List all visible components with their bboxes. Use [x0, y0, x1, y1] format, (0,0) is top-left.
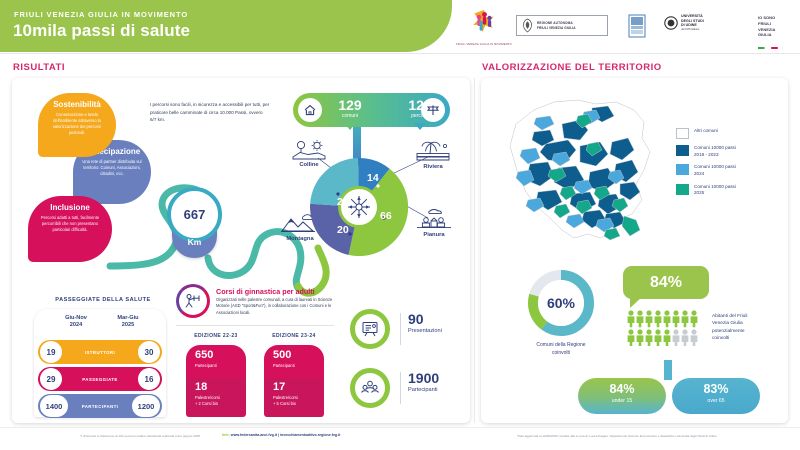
- abitanti-label-line3: potenzialmente: [712, 328, 784, 335]
- federsanita-anci-fvg-logo: [626, 13, 648, 51]
- edizione-23-24-gyms: 17 Palestre/corsi + 5 Corsi bis: [264, 378, 324, 417]
- gym-title: Corsi di ginnastica per adulti: [216, 287, 315, 296]
- universita-udine-text: UNIVERSITÀ DEGLI STUDI DI UDINE dal 1978…: [681, 14, 704, 31]
- edizione-23-24-participants: 500 Partecipanti: [264, 345, 324, 378]
- italy-flag-icon: [758, 47, 778, 51]
- pillar-inclusione: Inclusione Percorsi adatti a tutti, faci…: [28, 196, 112, 262]
- kpi-divider-1: [400, 313, 401, 345]
- edizione-23-24-gyms-value: 17: [273, 382, 324, 393]
- under15-pill: 84% under 15: [578, 378, 666, 414]
- logo-bar: FRIULI VENEZIA GIULIA IN MOVIMENTO REGIO…: [458, 8, 792, 48]
- star-people-icon: [464, 8, 504, 36]
- comuni-percorsi-capsule: 129 comuni 120 percorsi: [293, 93, 450, 127]
- passeggiate-istruttori-v2: 30: [138, 341, 160, 363]
- edizione-23-24-gyms-line2: + 5 Corsi bis: [273, 401, 324, 407]
- stat-comuni: 129 comuni: [326, 98, 374, 119]
- passeggiate-partecipanti-v1: 1400: [40, 395, 68, 417]
- passeggiate-passeggiate-v1: 29: [40, 368, 62, 390]
- passeggiate-title: PASSEGGIATE DELLA SALUTE: [33, 297, 173, 303]
- gymnastics-icon: [176, 284, 210, 318]
- pillar-sostenibilita: Sostenibilità Conservazione e tutela del…: [38, 93, 116, 157]
- total-km-capsule: 667 TOT Km: [172, 193, 217, 258]
- signpost-icon: [421, 98, 445, 122]
- legend-swatch-2025: [676, 184, 689, 195]
- io-sono-fvg-text: IO SONO FRIULI VENEZIA GIULIA: [758, 15, 794, 38]
- passeggiate-card: Giu-Nov 2024 Mar-Giu 2025 ISTRUTTORI 19 …: [34, 309, 166, 417]
- gymnastics-icon-svg: [183, 291, 203, 311]
- donut-value-pianura: 66: [380, 210, 392, 222]
- edizione-22-23-title: EDIZIONE 22-23: [180, 333, 252, 339]
- total-km-value: 667: [184, 207, 206, 222]
- donut-value-colline: 29: [337, 196, 349, 208]
- territory-donut-chart: 29 14 66 20: [310, 158, 408, 256]
- over65-value: 83%: [672, 383, 760, 396]
- pillar-sostenibilita-title: Sostenibilità: [45, 100, 109, 109]
- abitanti-coverage-value: 84%: [650, 274, 682, 292]
- section-title-risultati: RISULTATI: [13, 62, 65, 73]
- header-divider: [0, 53, 800, 54]
- stat-comuni-label: comuni: [326, 113, 374, 119]
- edizione-23-24-gyms-label: Palestre/corsi + 5 Corsi bis: [273, 395, 324, 406]
- edizione-23-24-participants-value: 500: [273, 350, 324, 361]
- signpost-icon-svg: [426, 103, 440, 117]
- edizione-22-23-card: 650 Partecipanti 18 Palestre/corsi + 2 C…: [186, 345, 246, 417]
- over65-label: over 65: [672, 398, 760, 404]
- edizione-22-23-gyms: 18 Palestre/corsi + 2 Corsi bis: [186, 378, 246, 417]
- legend-2024-line2: 2024: [694, 171, 736, 178]
- footer-note-left: *I chilometri si riferiscono ai 101 perc…: [80, 434, 200, 438]
- fvg-in-movimento-logo: FRIULI VENEZIA GIULIA IN MOVIMENTO: [464, 8, 504, 46]
- abitanti-label-line4: coinvolti: [712, 335, 784, 342]
- kpi-partecipanti: 1900 Partecipanti: [408, 371, 439, 393]
- legend-swatch-2024: [676, 164, 689, 175]
- abitanti-bubble-tail: [630, 297, 642, 308]
- edizione-23-24-participants-label: Partecipanti: [273, 363, 324, 369]
- fields-icon: [416, 208, 452, 230]
- passeggiate-row-istruttori: ISTRUTTORI 19 30: [38, 340, 162, 364]
- regione-fvg-line2: FRIULI VENEZIA GIULIA: [537, 26, 576, 30]
- uniud-line1: UNIVERSITÀ: [681, 14, 704, 19]
- footer-note-right: *Dati aggiornati al 10/06/2025 | Analisi…: [517, 434, 717, 438]
- fvg-in-movimento-caption: FRIULI VENEZIA GIULIA IN MOVIMENTO: [456, 43, 512, 46]
- legend-2025-line1: Comuni 10000 passi: [694, 184, 736, 191]
- capsule-notch-percorsi: [414, 123, 426, 130]
- people-pictogram: [627, 310, 701, 346]
- edizione-22-23-participants-label: Partecipanti: [195, 363, 246, 369]
- kpi-presentazioni-value: 90: [408, 312, 442, 326]
- pillar-partecipazione-body: Una rete di partner distribuita sul terr…: [80, 159, 144, 177]
- intro-paragraph: I percorsi sono facili, in sicurezza e a…: [150, 101, 270, 124]
- regione-fvg-line1: REGIONE AUTONOMA: [537, 21, 576, 25]
- under15-label: under 15: [578, 398, 666, 404]
- abitanti-coverage-bubble: 84%: [623, 266, 709, 299]
- pillar-inclusione-title: Inclusione: [35, 203, 105, 212]
- passeggiate-passeggiate-v2: 16: [138, 368, 160, 390]
- legend-2025-line2: 2025: [694, 190, 736, 197]
- passeggiate-row-passeggiate: PASSEGGIATE 29 16: [38, 367, 162, 391]
- stat-comuni-value: 129: [326, 98, 374, 112]
- gym-body: Organizzati nelle palestre comunali, a c…: [216, 297, 334, 316]
- edizione-22-23-participants: 650 Partecipanti: [186, 345, 246, 378]
- capsule-notch-comuni: [344, 123, 356, 130]
- pillar-inclusione-body: Percorsi adatti a tutti, facilmente perc…: [35, 215, 105, 233]
- edizione-22-23-gyms-label: Palestre/corsi + 2 Corsi bis: [195, 395, 246, 406]
- legend-2019-2023-line1: Comuni 10000 passi: [694, 145, 736, 152]
- legend-label-altri-comuni: Altri comuni: [694, 128, 718, 135]
- fvg-municipalities-map: [492, 88, 672, 253]
- comuni-coverage-label-line1: Comuni della Regione: [513, 342, 609, 350]
- passeggiate-col1-header: Giu-Nov 2024: [50, 315, 102, 330]
- universita-udine-logo: UNIVERSITÀ DEGLI STUDI DI UDINE dal 1978…: [664, 14, 758, 52]
- regione-eagle-icon: [521, 18, 534, 33]
- under15-value: 84%: [578, 383, 666, 396]
- uniud-sub: dal 1978 italiana: [681, 28, 704, 31]
- donut-label-pianura: Pianura: [412, 208, 456, 238]
- tree-sun-icon: [292, 140, 326, 160]
- donut-value-riviera: 14: [367, 172, 379, 184]
- comuni-coverage-donut: 60%: [528, 270, 594, 336]
- passeggiate-col1-line2: 2024: [50, 322, 102, 329]
- kpi-presentazioni-label: Presentazioni: [408, 328, 442, 334]
- edizione-22-23-participants-value: 650: [195, 350, 246, 361]
- home-icon: [298, 98, 322, 122]
- iosono-line4: GIULIA: [758, 32, 794, 38]
- donut-dot-riviera: [376, 184, 379, 187]
- donut-value-montagna: 20: [337, 224, 349, 236]
- footer-info-tag: Info:: [222, 433, 230, 437]
- legend-label-2025: Comuni 10000 passi 2025: [694, 184, 736, 197]
- page-header: FRIULI VENEZIA GIULIA IN MOVIMENTO 10mil…: [0, 0, 800, 56]
- io-sono-fvg-logo: IO SONO FRIULI VENEZIA GIULIA: [758, 15, 794, 53]
- donut-label-riviera: Riviera: [412, 140, 454, 170]
- panel-divider: [474, 78, 475, 423]
- passeggiate-col1-line1: Giu-Nov: [50, 315, 102, 322]
- passeggiate-partecipanti-v2: 1200: [132, 395, 160, 417]
- people-group-icon: [350, 368, 390, 408]
- passeggiate-col2-line1: Mar-Giu: [102, 315, 154, 322]
- edizione-22-23-gyms-line2: + 2 Corsi bis: [195, 401, 246, 407]
- regione-fvg-logo: REGIONE AUTONOMA FRIULI VENEZIA GIULIA: [516, 15, 608, 36]
- legend-item-2019-2023: Comuni 10000 passi 2019 - 2023: [676, 145, 786, 158]
- federsanita-shield-icon: [626, 13, 648, 39]
- total-km-label: TOT Km: [172, 228, 217, 248]
- comuni-coverage-label: Comuni della Regione coinvolti: [513, 342, 609, 357]
- legend-swatch-2019-2023: [676, 145, 689, 156]
- legend-swatch-altri-comuni: [676, 128, 689, 139]
- legend-2019-2023-line2: 2019 - 2023: [694, 152, 736, 159]
- udine-crest-icon: [664, 16, 678, 30]
- passeggiate-istruttori-v1: 19: [40, 341, 62, 363]
- edizione-22-23-gyms-value: 18: [195, 382, 246, 393]
- regione-fvg-logo-text: REGIONE AUTONOMA FRIULI VENEZIA GIULIA: [537, 21, 576, 30]
- passeggiate-col2-line2: 2025: [102, 322, 154, 329]
- gym-divider: [176, 325, 334, 326]
- footer-info-links[interactable]: www.federsanita.anci.fvg.it | invecchiam…: [231, 433, 341, 437]
- page-title: 10mila passi di salute: [13, 21, 190, 41]
- presentation-icon-svg: [360, 319, 380, 339]
- legend-label-2019-2023: Comuni 10000 passi 2019 - 2023: [694, 145, 736, 158]
- header-year-range: 2019 → 2025: [296, 20, 406, 34]
- home-icon-svg: [303, 103, 317, 117]
- footer-info[interactable]: Info: www.federsanita.anci.fvg.it | inve…: [222, 433, 340, 437]
- donut-label-riviera-text: Riviera: [423, 164, 442, 170]
- donut-label-pianura-text: Pianura: [423, 232, 444, 238]
- abitanti-label-line2: Venezia Giulia: [712, 320, 784, 327]
- map-legend: Altri comuni Comuni 10000 passi 2019 - 2…: [676, 128, 786, 203]
- abitanti-coverage-label: Abitanti del Friuli Venezia Giulia poten…: [712, 313, 784, 343]
- legend-item-altri-comuni: Altri comuni: [676, 128, 786, 139]
- infographic-page: FRIULI VENEZIA GIULIA IN MOVIMENTO 10mil…: [0, 0, 800, 450]
- comuni-coverage-label-line2: coinvolti: [513, 350, 609, 358]
- people-group-icon-svg: [360, 378, 380, 398]
- compass-rose-icon: [346, 194, 372, 220]
- over65-pill: 83% over 65: [672, 378, 760, 414]
- legend-item-2024: Comuni 10000 passi 2024: [676, 164, 786, 177]
- passeggiate-row-partecipanti: PARTECIPANTI 1400 1200: [38, 394, 162, 418]
- age-pills-stem: [664, 360, 672, 380]
- kpi-partecipanti-value: 1900: [408, 371, 439, 385]
- edizione-23-24-card: 500 Partecipanti 17 Palestre/corsi + 5 C…: [264, 345, 324, 417]
- beach-palm-icon: [415, 140, 451, 162]
- legend-2024-line1: Comuni 10000 passi: [694, 164, 736, 171]
- footer-divider: [0, 427, 800, 428]
- edizione-23-24-title: EDIZIONE 23-24: [258, 333, 330, 339]
- section-title-valorizzazione: VALORIZZAZIONE DEL TERRITORIO: [482, 62, 662, 73]
- kpi-presentazioni: 90 Presentazioni: [408, 312, 442, 334]
- legend-item-2025: Comuni 10000 passi 2025: [676, 184, 786, 197]
- total-km-label-line2: Km: [172, 238, 217, 248]
- comuni-coverage-value: 60%: [538, 280, 584, 326]
- passeggiate-col2-header: Mar-Giu 2025: [102, 315, 154, 330]
- kpi-partecipanti-label: Partecipanti: [408, 387, 439, 393]
- pillar-sostenibilita-body: Conservazione e tutela dell'ambiente att…: [45, 112, 109, 137]
- abitanti-label-line1: Abitanti del Friuli: [712, 313, 784, 320]
- kpi-divider-2: [400, 372, 401, 404]
- header-kicker: FRIULI VENEZIA GIULIA IN MOVIMENTO: [14, 10, 188, 19]
- presentation-icon: [350, 309, 390, 349]
- legend-label-2024: Comuni 10000 passi 2024: [694, 164, 736, 177]
